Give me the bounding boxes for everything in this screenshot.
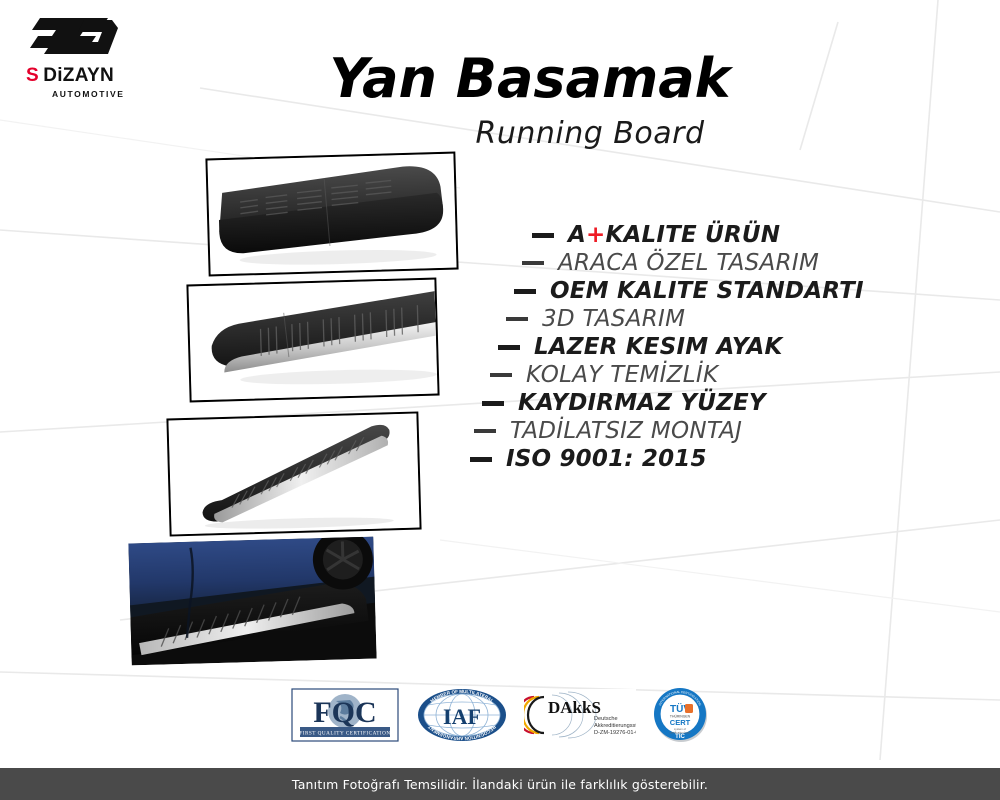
tuv-cert-label: CERT bbox=[670, 718, 691, 727]
feature-item: KAYDIRMAZ YÜZEY bbox=[482, 390, 910, 416]
running-board-full-length-image bbox=[168, 414, 419, 535]
page-subtitle: Running Board bbox=[390, 116, 790, 151]
feature-label: KAYDIRMAZ YÜZEY bbox=[518, 390, 766, 416]
running-board-top-view-image bbox=[188, 280, 437, 401]
feature-label: TADİLATSIZ MONTAJ bbox=[510, 418, 742, 444]
feature-dash-icon bbox=[532, 233, 554, 238]
feature-label: A+KALITE ÜRÜN bbox=[568, 222, 780, 248]
feature-item: A+KALITE ÜRÜN bbox=[532, 222, 910, 248]
dakks-line1: Deutsche bbox=[594, 716, 618, 722]
footer-disclaimer-text: Tanıtım Fotoğrafı Temsilidir. İlandaki ü… bbox=[292, 777, 708, 792]
fqc-acronym: FQC bbox=[313, 696, 376, 729]
feature-item: TADİLATSIZ MONTAJ bbox=[474, 418, 910, 444]
feature-dash-icon bbox=[474, 429, 496, 433]
feature-label: KOLAY TEMİZLİK bbox=[526, 362, 718, 388]
feature-item: KOLAY TEMİZLİK bbox=[490, 362, 910, 388]
running-board-angled-image bbox=[207, 154, 456, 275]
feature-item: 3D TASARIM bbox=[506, 306, 910, 332]
logo-initial: S bbox=[26, 65, 38, 87]
logo-tagline: AUTOMOTIVE bbox=[52, 89, 152, 99]
feature-label: LAZER KESIM AYAK bbox=[534, 334, 783, 360]
dakks-line2: Akkreditierungsstelle bbox=[594, 723, 636, 729]
product-photo-1 bbox=[205, 152, 458, 277]
page-title: Yan Basamak bbox=[270, 52, 790, 106]
feature-item: OEM KALITE STANDARTI bbox=[514, 278, 910, 304]
feature-label: ISO 9001: 2015 bbox=[506, 446, 707, 472]
feature-label: 3D TASARIM bbox=[542, 306, 685, 332]
feature-label: ARACA ÖZEL TASARIM bbox=[558, 250, 819, 276]
footer-disclaimer-bar: Tanıtım Fotoğrafı Temsilidir. İlandaki ü… bbox=[0, 768, 1000, 800]
iaf-certification-badge: IAF MEMBER OF MULTILATERAL RECOGNITION A… bbox=[416, 686, 508, 744]
product-photo-3 bbox=[166, 412, 421, 537]
brand-logo: S DiZAYN AUTOMOTIVE bbox=[22, 14, 152, 92]
s-dizayn-logo-mark bbox=[22, 14, 126, 64]
running-board-installed-image bbox=[128, 537, 376, 666]
certification-badges: FQC FIRST QUALITY CERTIFICATION IAF MEMB… bbox=[290, 684, 710, 746]
feature-list: A+KALITE ÜRÜN ARACA ÖZEL TASARIM OEM KAL… bbox=[470, 222, 910, 474]
fqc-certification-badge: FQC FIRST QUALITY CERTIFICATION bbox=[290, 687, 400, 743]
logo-brand-name: DiZAYN bbox=[43, 65, 114, 87]
feature-dash-icon bbox=[506, 317, 528, 321]
feature-dash-icon bbox=[470, 457, 492, 462]
feature-label: OEM KALITE STANDARTI bbox=[550, 278, 864, 304]
fqc-caption: FIRST QUALITY CERTIFICATION bbox=[299, 731, 390, 737]
iaf-acronym: IAF bbox=[443, 704, 481, 729]
title-block: Yan Basamak Running Board bbox=[270, 52, 790, 151]
tuv-bottom-label: TIC bbox=[675, 734, 685, 740]
feature-dash-icon bbox=[490, 373, 512, 377]
tuv-certification-badge: TÜV THÜRINGEN CERT system of certificati… bbox=[652, 686, 710, 744]
dakks-acronym: DAkkS bbox=[548, 698, 601, 717]
plus-sign: + bbox=[586, 222, 605, 248]
feature-item: ARACA ÖZEL TASARIM bbox=[522, 250, 910, 276]
product-photo-4 bbox=[128, 537, 376, 666]
dakks-certification-badge: DAkkS Deutsche Akkreditierungsstelle D-Z… bbox=[524, 689, 636, 741]
feature-dash-icon bbox=[514, 289, 536, 294]
feature-item: ISO 9001: 2015 bbox=[470, 446, 910, 472]
feature-dash-icon bbox=[498, 345, 520, 350]
product-photo-2 bbox=[186, 278, 439, 403]
feature-dash-icon bbox=[482, 401, 504, 406]
feature-item: LAZER KESIM AYAK bbox=[498, 334, 910, 360]
logo-wordmark: S DiZAYN bbox=[26, 65, 152, 87]
feature-dash-icon bbox=[522, 261, 544, 265]
dakks-line3: D-ZM-19276-01-00 bbox=[594, 730, 636, 736]
advertisement-page: S DiZAYN AUTOMOTIVE Yan Basamak Running … bbox=[0, 0, 1000, 800]
